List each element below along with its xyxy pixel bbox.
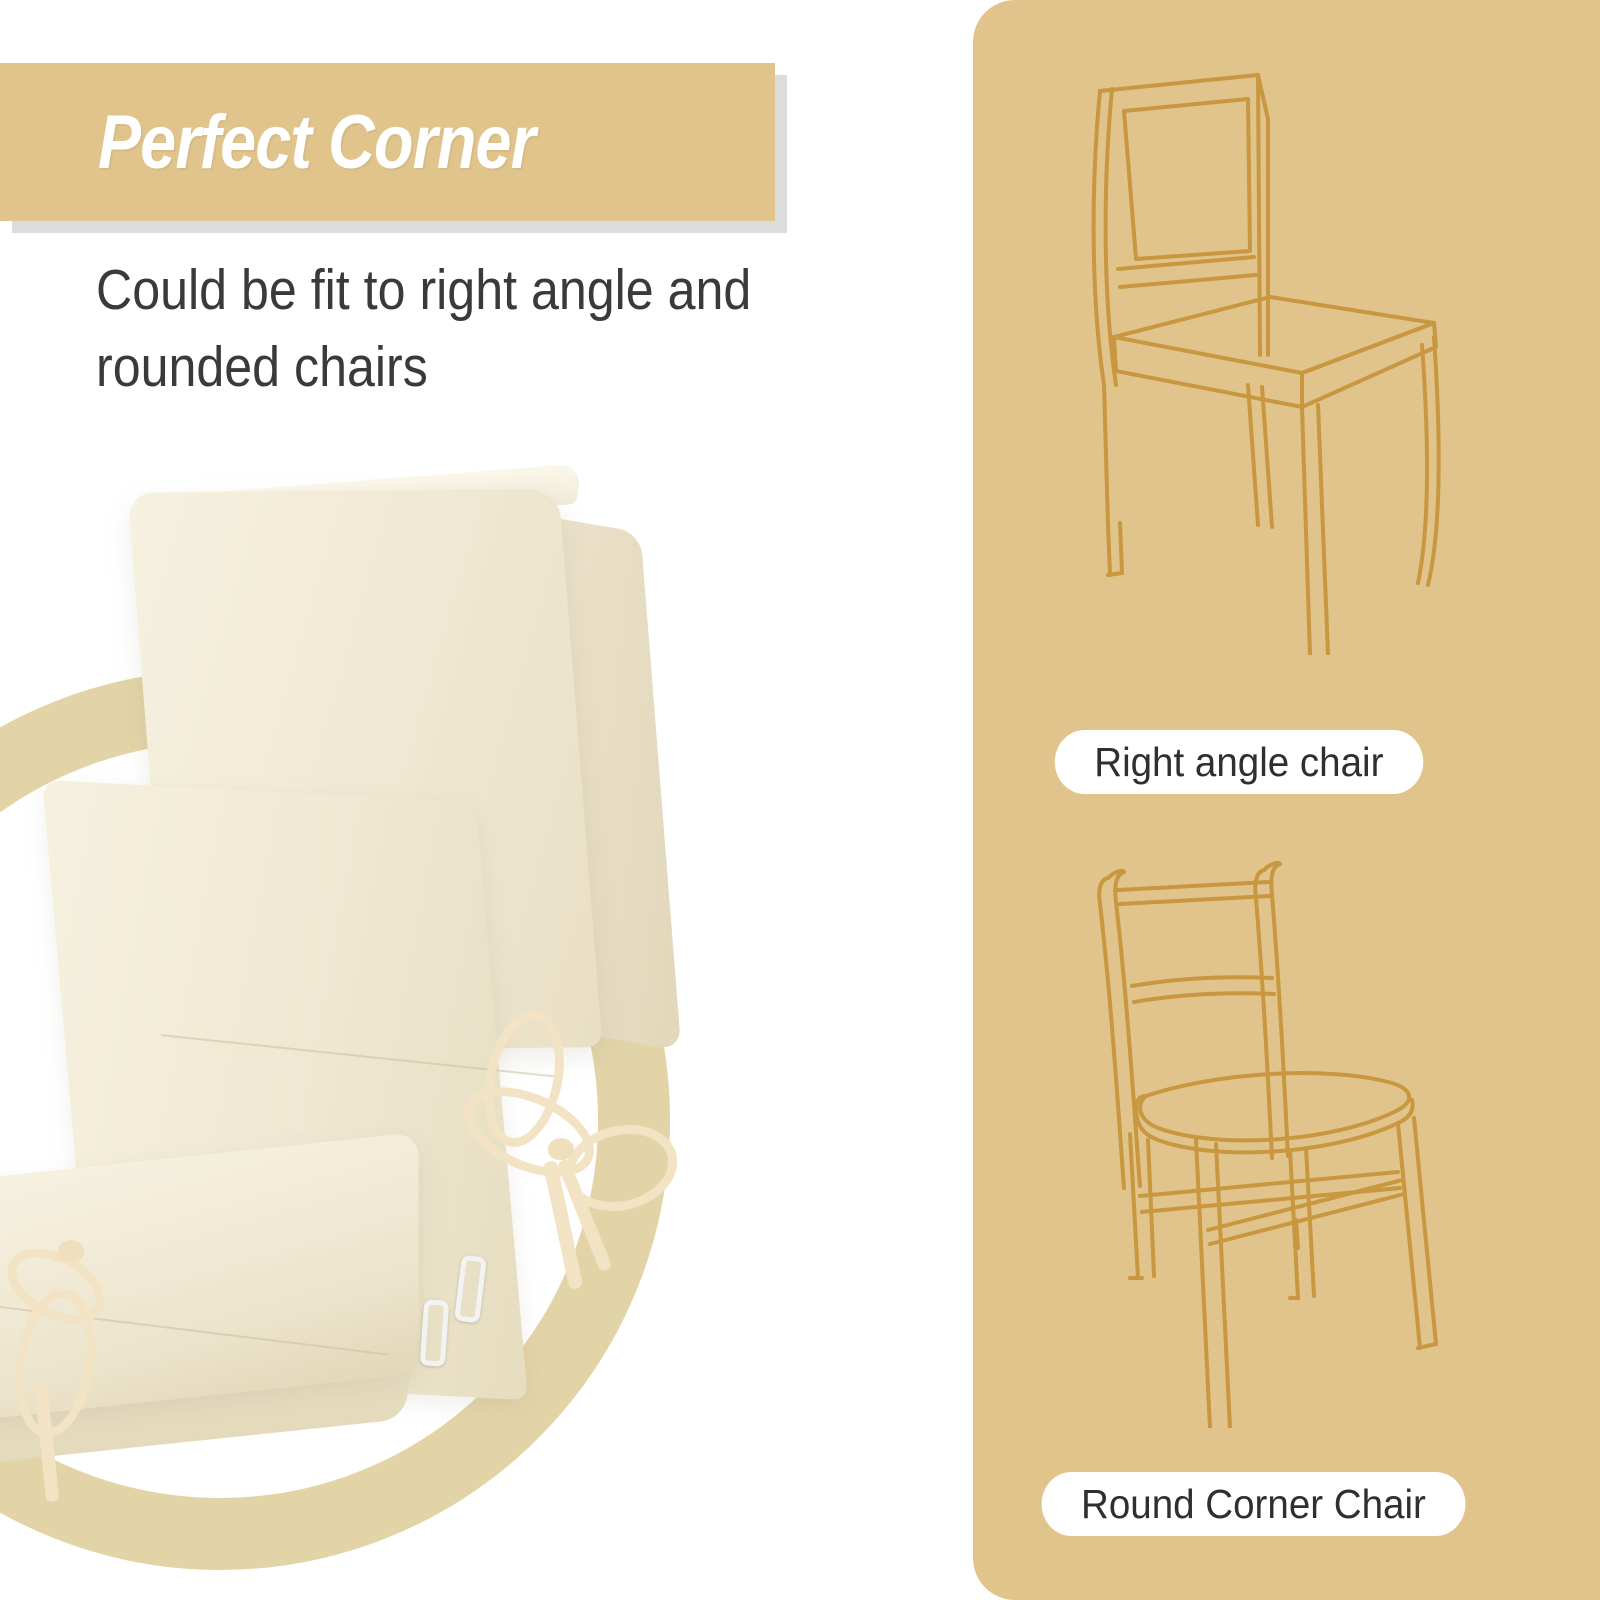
label-round-corner-chair: Round Corner Chair: [1042, 1472, 1466, 1536]
zipper-pull-icon: [420, 1299, 450, 1367]
page-title: Perfect Corner: [98, 99, 535, 186]
right-angle-chair-icon: [1062, 55, 1462, 655]
product-photo-cushion: [0, 470, 720, 1480]
bow-knot: [58, 1240, 84, 1262]
label-right-angle-chair: Right angle chair: [1055, 730, 1423, 794]
promo-graphic: Perfect Corner Could be fit to right ang…: [0, 0, 1600, 1600]
round-corner-chair-icon: [1068, 828, 1468, 1428]
bow-knot: [548, 1138, 574, 1160]
subheadline-text: Could be fit to right angle and rounded …: [96, 252, 818, 406]
headline-banner: Perfect Corner: [0, 63, 775, 221]
